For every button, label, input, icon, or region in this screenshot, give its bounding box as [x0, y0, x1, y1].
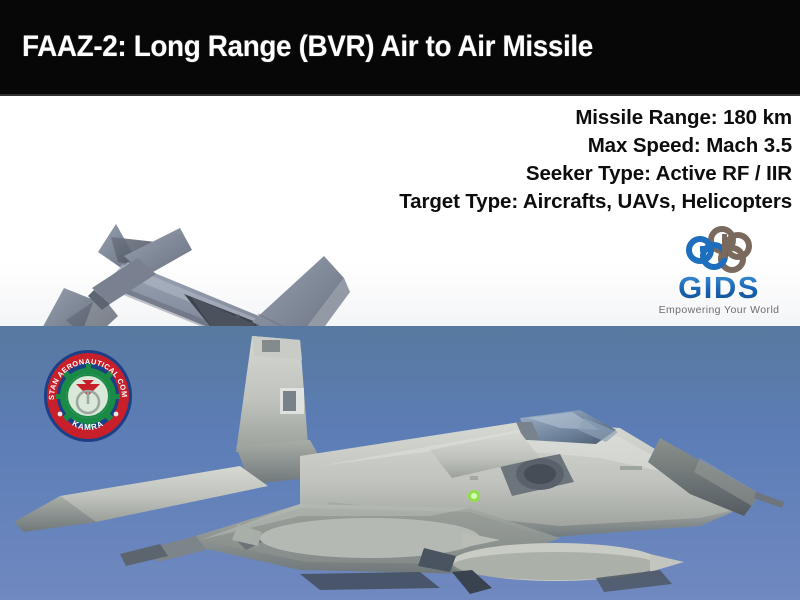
spec-seeker-type: Seeker Type: Active RF / IIR	[232, 160, 792, 188]
spec-list: Missile Range: 180 km Max Speed: Mach 3.…	[232, 104, 792, 216]
interlocking-circles-icon	[680, 226, 760, 274]
slide-canvas: FAAZ-2: Long Range (BVR) Air to Air Miss…	[0, 0, 800, 600]
gids-tagline: Empowering Your World	[644, 304, 794, 316]
gids-logo: GIDS Empowering Your World	[644, 226, 794, 318]
title-band: FAAZ-2: Long Range (BVR) Air to Air Miss…	[0, 0, 800, 96]
spec-max-speed: Max Speed: Mach 3.5	[232, 132, 792, 160]
gids-wordmark: GIDS	[644, 272, 794, 304]
spec-target-type: Target Type: Aircrafts, UAVs, Helicopter…	[232, 188, 792, 216]
spec-missile-range: Missile Range: 180 km	[232, 104, 792, 132]
spec-panel: Missile Range: 180 km Max Speed: Mach 3.…	[0, 96, 800, 326]
page-title: FAAZ-2: Long Range (BVR) Air to Air Miss…	[22, 28, 710, 66]
pac-kamra-roundel-icon: PAKISTAN AERONAUTICAL COMPLEX KAMRA	[38, 346, 138, 446]
aircraft-photo: 22-306	[0, 326, 800, 600]
